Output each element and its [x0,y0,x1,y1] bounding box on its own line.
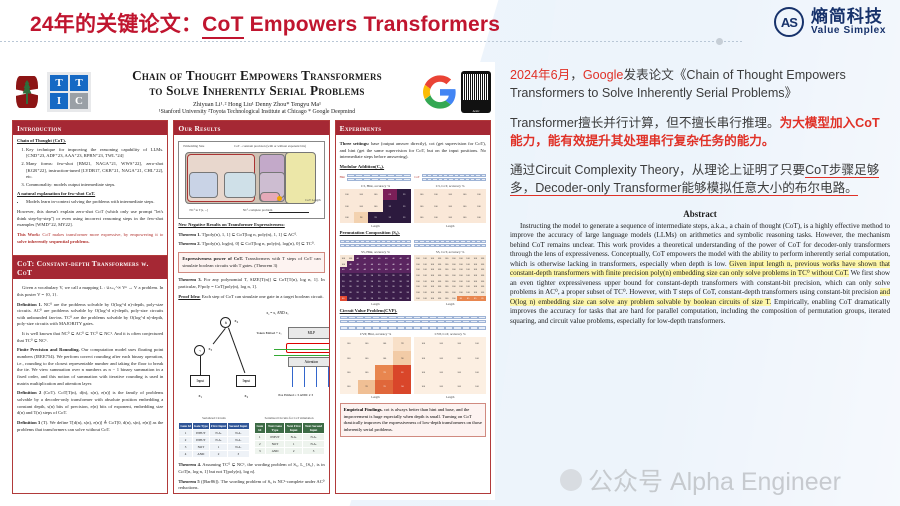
poster-authors: Zhiyuan Li¹˒² Hong Liu¹ Denny Zhou* Teng… [97,101,417,108]
poster-affiliations: ¹Stanford University ²Toyota Technologic… [97,109,417,115]
and-gate-node: ∧ [220,317,231,328]
poster-column-results: Our Results Embedding Size CoT - constan… [173,120,329,494]
this-work-text: CoT makes transformer more expressive, b… [40,232,163,237]
poster-title-line2: to Solve Inherently Serial Problems [97,84,417,98]
intro-sub1: Chain of Thought (CoT). [17,138,163,145]
intro-list-item: Many forms: few-shot [BM21, NAGA⁺21, WWS… [26,161,163,181]
circ-output-eq: x₄ = x₃ AND x₂ [266,311,288,315]
expressiveness-box: Expressiveness power of CoT. Transformer… [178,252,324,273]
var-x1: x₁ [198,393,202,398]
task1-title: Modular Addition(C₃). [340,164,486,171]
table-row: 2 INPUT N.A. N.A. [179,437,249,444]
page-title: 24年的关键论文：CoT Empowers Transformers [30,8,500,38]
heatmap-cell: 20 [383,296,390,302]
heatmap-cvp-cot: CVP, CoT, accuracy % 100100100100 100100… [414,332,486,399]
paragraph-publication: 2024年6月，Google发表论文《Chain of Thought Empo… [510,66,890,103]
thm1-label: Theorem 1. [178,232,200,237]
circuit-simulation-diagram: ∧ x₄ ¬ x₃ Input Input x₁ x₂ x₄ = x₃ AND … [178,303,324,413]
c3-token-strips: Hint CoT [340,173,486,182]
cell: INPUT [266,434,285,441]
cot-simulation-table: Gate Id Next Gate Type Next First Input … [254,422,325,455]
page-title-rest: Empowers Transformers [244,13,501,36]
poster-image: T T I C Chain of Thought Empowers Transf… [8,62,495,500]
heatmap-title: S5, Hint, accuracy % [340,250,412,254]
table-row: 1 INPUT N.A. N.A. [179,430,249,437]
this-work-bold: solve inherently sequential problems. [17,239,90,244]
cell: 3 [254,448,266,455]
cell: AND [192,451,209,458]
ttic-letter: C [70,93,88,109]
table-row: 2 NOT 1 N.A. [254,441,324,448]
heatmap-cell: 100 [436,296,443,302]
task3-title: Circuit Value Problem(CVP). [340,308,486,315]
abstract-section: Abstract Instructing the model to genera… [510,209,890,327]
th: Second Input [228,423,249,430]
cell: 1 [179,430,192,437]
heatmap-title: CVP, CoT, accuracy % [414,332,486,336]
column-heading: Introduction [13,121,167,135]
cell: N.A. [228,430,249,437]
thm2-text: T[poly(n), log(n), 0] ⊆ CoT[log n, poly(… [201,241,315,246]
cell: N.A. [303,434,324,441]
th: Next Second Input [303,423,324,434]
fig-x-axis-label: CoT Length [305,198,320,202]
attention-block: Attention [288,357,329,367]
right-content-panel: 2024年6月，Google发表论文《Chain of Thought Empo… [510,66,890,502]
heatmap-cell: 20 [390,296,397,302]
expressiveness-region-figure: Embedding Size CoT - constant precision … [178,141,324,219]
cot-tag: CoT [414,175,419,179]
input-box: Input [190,375,210,387]
thm5-label: Theorem 5 [178,479,199,484]
poster-header: T T I C Chain of Thought Empowers Transf… [8,62,495,120]
th: Gate Id [179,423,192,430]
poster-columns: Introduction Chain of Thought (CoT). Key… [8,120,495,498]
column-body: Chain of Thought (CoT). Key technique fo… [13,135,167,251]
brand-logo: AS 熵简科技 Value Simplex [774,7,886,37]
stanford-logo-icon [12,76,42,108]
header-divider-dot [716,38,723,45]
c3-heatmaps: C3, Hint, accuracy % 1001001006633 10010… [340,184,486,228]
heatmap-title: S5, CoT, accuracy % [414,250,486,254]
heatmap-cell: 20 [404,296,411,302]
heatmap-cell: 20 [347,296,354,302]
proof-label: Proof Idea: [178,294,200,299]
ttic-letter: I [50,93,68,109]
ttic-letter: T [70,75,88,91]
var-x2: x₂ [244,393,248,398]
findings-label: Empirical Findings. [344,407,383,412]
page-title-highlight: CoT [202,13,243,39]
pub-org: Google [583,68,624,82]
c2-para2: It is well known that NC⁰ ⊆ AC⁰ ⊆ TC⁰ ⊆ … [17,331,163,344]
paragraph-circuit-theory: 通过Circuit Complexity Theory，从理论上证明了只要CoT… [510,161,890,198]
heatmap-cell: 85 [479,296,486,302]
cell: 2 [179,437,192,444]
cvp-heatmaps: CVP, Hint, accuracy % 10010010099 100100… [340,332,486,399]
cell: 1 [254,434,266,441]
heatmap-cell: 85 [464,296,471,302]
th: Next Gate Type [266,423,285,434]
thm5-text: ([Bar86]). The wording problem of S₅ is … [178,479,324,491]
intro-bullet: Models learn in-context solving the prob… [26,199,163,206]
cell: 4 [179,451,192,458]
circuit-part1: 通过Circuit Complexity Theory，从理论上证明了只要 [510,163,805,177]
heatmap-cell: 20 [397,296,404,302]
cell: N.A. [228,444,249,451]
cell: 1 [209,444,227,451]
th: Next First Input [284,423,303,434]
intro-list-item: Commonality: models output intermediate … [26,182,163,189]
cell: N.A. [284,434,303,441]
brand-name-cn: 熵简科技 [811,8,886,26]
cell: 3 [179,444,192,451]
column-body: Embedding Size CoT - constant precision … [174,135,328,494]
heatmap-cell: 20 [375,296,382,302]
cell: 2 [254,441,266,448]
table2-caption: Serialized Circuits for CoT simulation [254,416,325,420]
heatmap-cell: 20 [368,296,375,302]
token-embed-label: Token Embed + x₂ [256,331,281,335]
column-heading-2: CoT: Constant-depth Transformers w. CoT [13,255,167,279]
qr-code-icon: Arxiv [461,71,491,113]
google-logo-icon [423,75,457,109]
heatmap-x-label: Length [340,302,412,306]
settings-label: Three settings: [340,141,370,146]
cell: 3 [228,451,249,458]
var-x3: x₃ [208,346,212,351]
cell: 2 [284,448,303,455]
heatmap-x-label: Length [414,224,486,228]
poster-column-experiments: Experiments Three settings: base (output… [335,120,491,494]
def2-label: Definition 2 [17,390,41,395]
cell: N.A. [228,437,249,444]
cell: 1 [284,441,303,448]
poster-title-line1: Chain of Thought Empowers Transformers [97,69,417,83]
heatmap-s5-hint: S5, Hint, accuracy % 1001004040404040404… [340,250,412,306]
heatmap-x-label: Length [414,395,486,399]
s5-token-strips [340,239,486,248]
table-row: 3 AND 2 3 [254,448,324,455]
pos-embed-label: Pos Embed = 3 AND: 2 3 [278,393,313,397]
heatmap-cell: 100 [414,296,421,302]
s5-heatmaps: S5, Hint, accuracy % 1001004040404040404… [340,250,486,306]
heatmap-x-label: Length [414,302,486,306]
cell: NOT [266,441,285,448]
cell: 3 [303,448,324,455]
heatmap-x-label: Length [340,224,412,228]
th: First Input [209,423,227,430]
abstract-body: Instructing the model to generate a sequ… [510,222,890,327]
input-box: Input [236,375,256,387]
heatmap-cell: 85 [457,296,464,302]
page-title-cn: 24年的关键论文： [30,13,202,36]
pub-comma: ， [570,68,583,82]
c2-para1: Given a vocabulary V, we call a mapping … [17,285,163,298]
heatmap-cell: 20 [361,296,368,302]
table1-caption: Serialized Circuits [178,416,249,420]
column-heading: Experiments [336,121,490,135]
cell: AND [266,448,285,455]
poster-title-block: Chain of Thought Empowers Transformers t… [91,69,423,115]
thm2-label: Theorem 2. [178,241,200,246]
hint-tag: Hint [340,175,345,179]
qr-caption: Arxiv [463,109,489,113]
heatmap-cell: 100 [443,296,450,302]
heatmap-cell: 100 [421,296,428,302]
cell: INPUT [192,437,209,444]
intro-list-item: Key technique for improving the reasonin… [26,147,163,160]
def1-label: Definition 1. [17,302,42,307]
heatmap-cell: 100 [450,296,457,302]
paragraph-transformer: Transformer擅长并行计算，但不擅长串行推理。为大模型加入CoT能力，能… [510,114,890,151]
thm3-label: Theorem 3. [178,277,201,282]
fpr-label: Finite Precision and Rounding. [17,347,80,352]
empirical-findings-box: Empirical Findings. cot is always better… [340,403,486,438]
cvp-token-strips [340,316,486,330]
heatmap-s5-cot: S5, CoT, accuracy % 10010010010010010010… [414,250,486,306]
heatmap-title: C3, Hint, accuracy % [340,184,412,188]
heatmap-title: C3, CoT, accuracy % [414,184,486,188]
not-gate-node: ¬ [194,345,205,356]
cell: INPUT [192,430,209,437]
var-x4: x₄ [234,318,238,323]
thm1-text: T[poly(n), 1, 1] ⊆ CoT[log n, poly(n), 1… [201,232,298,237]
mlp-block: MLP [288,327,329,339]
slide-header: 24年的关键论文：CoT Empowers Transformers AS 熵简… [0,0,900,46]
transformer-part1: Transformer擅长并行计算，但不擅长串行推理。 [510,116,780,130]
table-row: 1 INPUT N.A. N.A. [254,434,324,441]
def3-label: Definition 3 [17,420,40,425]
header-divider [0,41,742,42]
heatmap-cell: 85 [472,296,479,302]
results-sub1: New Negative Results on Transformer Expr… [178,222,324,229]
cell: 2 [209,451,227,458]
box-label: Expressiveness power of CoT. [182,256,243,261]
fig-title: CoT - constant precision (with or withou… [234,144,306,148]
thm4-label: Theorem 4. [178,462,201,467]
column-body: Three settings: base (output answer dire… [336,135,490,444]
heatmap-cell: 80 [340,296,347,302]
cell: N.A. [209,430,227,437]
heatmap-x-label: Length [340,395,412,399]
th: Gate Id [254,423,266,434]
poster-column-introduction: Introduction Chain of Thought (CoT). Key… [12,120,168,494]
ttic-letter: T [50,75,68,91]
brand-text: 熵简科技 Value Simplex [811,8,886,36]
column-body-2: Given a vocabulary V, we call a mapping … [13,279,167,439]
intro-sub2: A natural explanation for few-shot CoT. [17,191,163,198]
brand-name-en: Value Simplex [811,26,886,37]
cell: NOT [192,444,209,451]
heatmap-cvp-hint: CVP, Hint, accuracy % 10010010099 100100… [340,332,412,399]
heatmap-cell: 20 [354,296,361,302]
heatmap-c3-cot: C3, CoT, accuracy % 100100100100100 1001… [414,184,486,228]
fpr-text: Our computation model uses floating poin… [17,347,163,385]
abstract-title: Abstract [510,209,890,219]
cell: N.A. [209,437,227,444]
th: Gate Type [192,423,209,430]
brand-mark-icon: AS [774,7,804,37]
this-work-label: This Work: [17,232,40,237]
column-heading: Our Results [174,121,328,135]
thm4-text: Assuming TC⁰ ⊊ NC¹, the wording problem … [178,462,324,474]
intro-para1: However, this doesn't explain zero-shot … [17,209,163,229]
table-row: 4 AND 2 3 [179,451,249,458]
heatmap-cell: 100 [429,296,436,302]
serialized-circuits-table: Gate Id Gate Type First Input Second Inp… [178,422,249,458]
cell: N.A. [303,441,324,448]
heatmap-title: CVP, Hint, accuracy % [340,332,412,336]
pub-date: 2024年6月 [510,68,570,82]
proof-text: Each step of CoT can simulate one gate i… [201,294,324,299]
ttic-logo-icon: T T I C [47,72,91,112]
fig-foot-left: NC¹ ⊆ T[s, ...] [189,208,208,212]
task2-title: Permutation Composition (S₅). [340,230,486,237]
table-row: 3 NOT 1 N.A. [179,444,249,451]
fig-y-axis-label: Embedding Size [183,144,204,148]
heatmap-c3-hint: C3, Hint, accuracy % 1001001006633 10010… [340,184,412,228]
